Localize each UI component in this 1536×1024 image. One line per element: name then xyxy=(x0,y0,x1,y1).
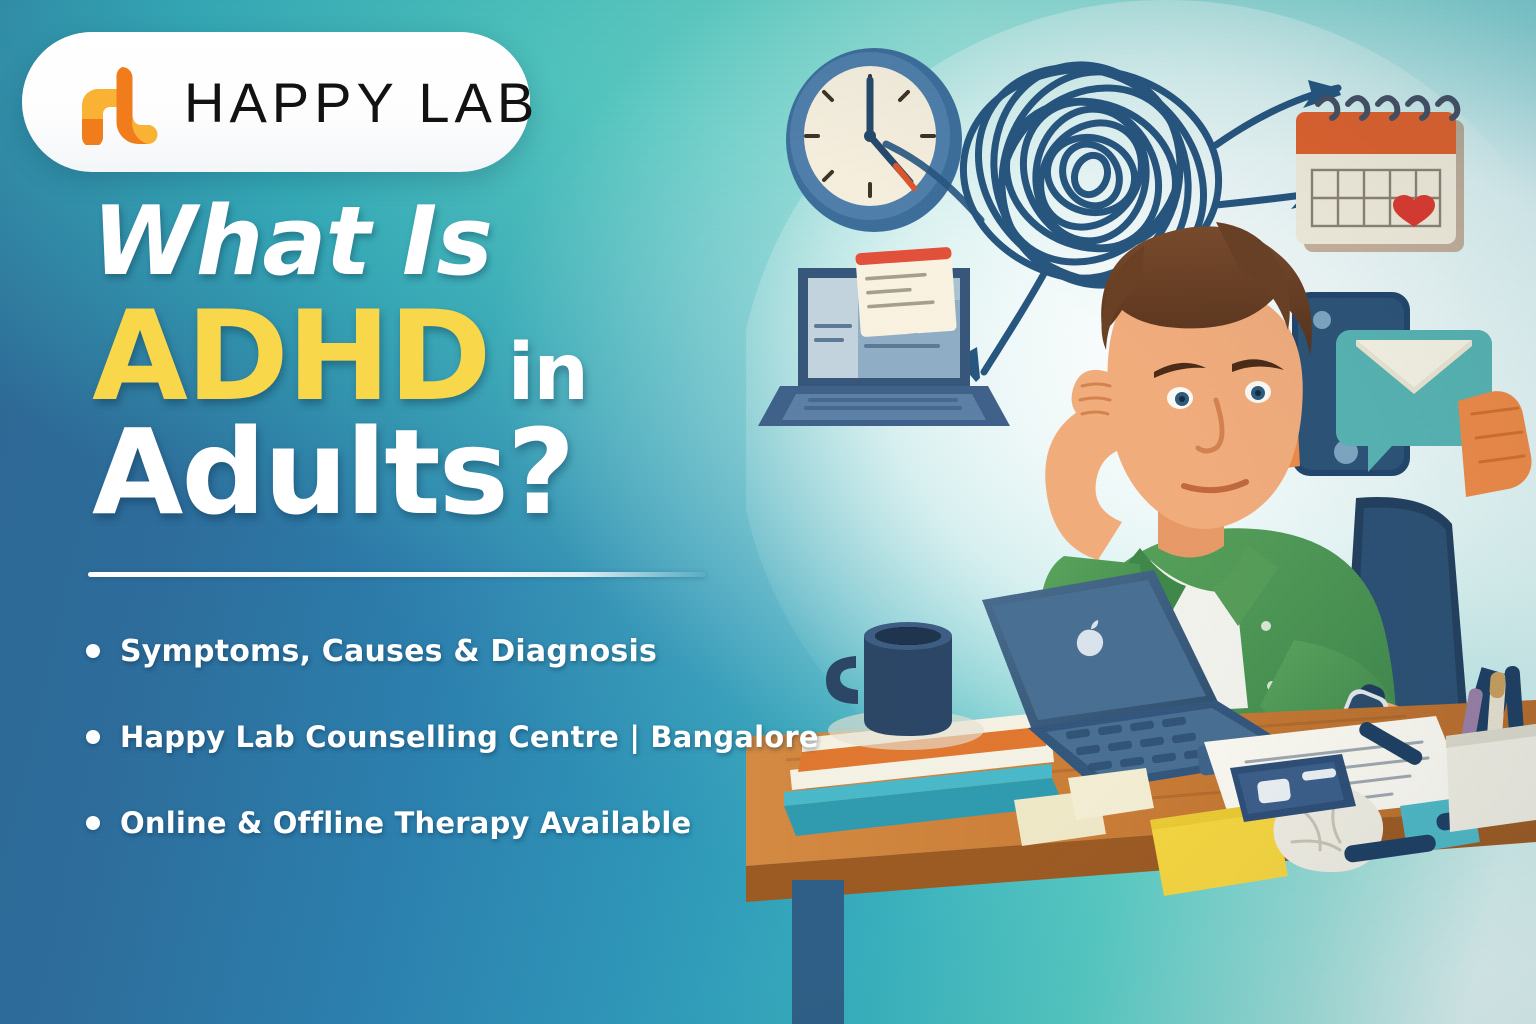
headline-block: What Is ADHD in Adults? xyxy=(92,196,772,531)
bullet-dot-icon xyxy=(86,816,100,830)
headline-divider xyxy=(88,572,706,577)
bullet-dot-icon xyxy=(86,730,100,744)
headline-line-1: What Is xyxy=(92,196,772,289)
headline-line-2: ADHD in xyxy=(92,295,772,419)
bullet-list: Symptoms, Causes & Diagnosis Happy Lab C… xyxy=(86,608,786,866)
wall-clock-icon xyxy=(786,48,962,232)
bullet-text: Happy Lab Counselling Centre | Bangalore xyxy=(120,720,819,754)
list-item: Online & Offline Therapy Available xyxy=(86,780,786,866)
headline-connector-in: in xyxy=(508,334,588,412)
bullet-dot-icon xyxy=(86,644,100,658)
list-item: Symptoms, Causes & Diagnosis xyxy=(86,608,786,694)
happy-lab-monogram-icon xyxy=(70,59,162,145)
calendar-icon xyxy=(1296,98,1464,252)
bullet-text: Symptoms, Causes & Diagnosis xyxy=(120,634,657,669)
headline-line-3: Adults? xyxy=(92,413,772,531)
brand-logo-badge[interactable]: HAPPY LAB xyxy=(22,32,530,172)
poster-canvas: HAPPY LAB What Is ADHD in Adults? Sympto… xyxy=(0,0,1536,1024)
list-item: Happy Lab Counselling Centre | Bangalore xyxy=(86,694,786,780)
bullet-text: Online & Offline Therapy Available xyxy=(120,806,691,840)
headline-highlight-adhd: ADHD xyxy=(92,295,490,419)
brand-logo-text: HAPPY LAB xyxy=(184,70,539,135)
illustration-artwork xyxy=(746,0,1536,1024)
